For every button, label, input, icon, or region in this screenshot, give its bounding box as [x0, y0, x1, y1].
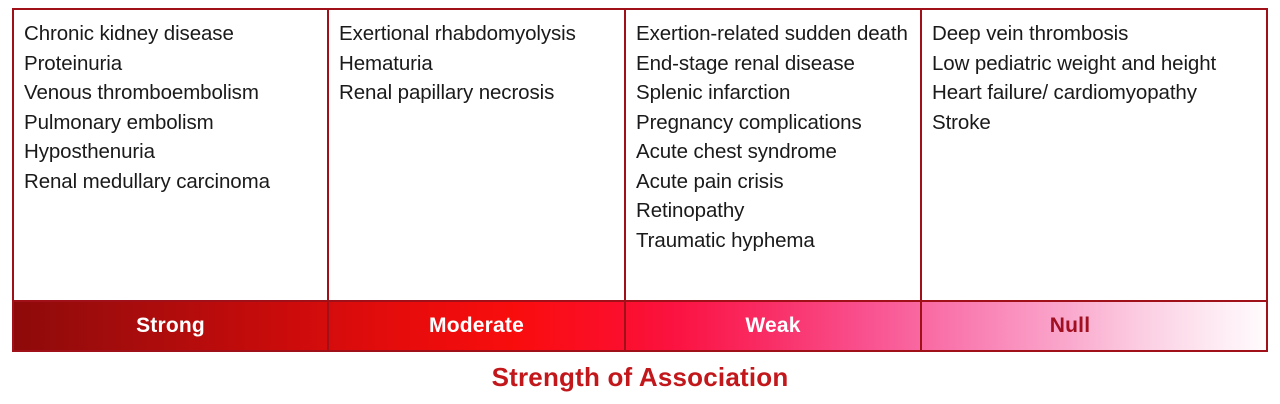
- list-item: Hematuria: [339, 49, 614, 79]
- list-item: Deep vein thrombosis: [932, 19, 1256, 49]
- list-item: Pregnancy complications: [636, 108, 910, 138]
- list-item: Exertional rhabdomyolysis: [339, 19, 614, 49]
- list-item: Renal medullary carcinoma: [24, 167, 317, 197]
- gradient-segment-strong: Strong: [14, 302, 327, 350]
- list-item: Retinopathy: [636, 196, 910, 226]
- list-item: Proteinuria: [24, 49, 317, 79]
- list-item: Renal papillary necrosis: [339, 78, 614, 108]
- gradient-segment-moderate: Moderate: [327, 302, 624, 350]
- gradient-label-strong: Strong: [136, 314, 205, 338]
- condition-list-null: Deep vein thrombosis Low pediatric weigh…: [932, 19, 1256, 137]
- gradient-segment-weak: Weak: [624, 302, 920, 350]
- column-moderate: Exertional rhabdomyolysis Hematuria Rena…: [327, 10, 624, 302]
- list-item: Splenic infarction: [636, 78, 910, 108]
- column-null: Deep vein thrombosis Low pediatric weigh…: [920, 10, 1266, 302]
- gradient-segment-null: Null: [920, 302, 1266, 350]
- strength-gradient-bar: Strong Moderate Weak Null: [14, 300, 1266, 350]
- list-item: Acute pain crisis: [636, 167, 910, 197]
- list-item: Chronic kidney disease: [24, 19, 317, 49]
- list-item: Hyposthenuria: [24, 137, 317, 167]
- column-weak: Exertion-related sudden death End-stage …: [624, 10, 920, 302]
- gradient-label-moderate: Moderate: [429, 314, 524, 338]
- list-item: Acute chest syndrome: [636, 137, 910, 167]
- list-item: End-stage renal disease: [636, 49, 910, 79]
- list-item: Traumatic hyphema: [636, 226, 910, 256]
- strength-of-association-figure: Chronic kidney disease Proteinuria Venou…: [0, 0, 1280, 404]
- columns-row: Chronic kidney disease Proteinuria Venou…: [14, 10, 1266, 302]
- figure-caption: Strength of Association: [0, 362, 1280, 393]
- list-item: Heart failure/ cardiomyopathy: [932, 78, 1256, 108]
- list-item: Stroke: [932, 108, 1256, 138]
- list-item: Pulmonary embolism: [24, 108, 317, 138]
- list-item: Exertion-related sudden death: [636, 19, 910, 49]
- column-strong: Chronic kidney disease Proteinuria Venou…: [14, 10, 327, 302]
- gradient-label-weak: Weak: [745, 314, 800, 338]
- association-table: Chronic kidney disease Proteinuria Venou…: [12, 8, 1268, 352]
- condition-list-strong: Chronic kidney disease Proteinuria Venou…: [24, 19, 317, 196]
- condition-list-weak: Exertion-related sudden death End-stage …: [636, 19, 910, 255]
- condition-list-moderate: Exertional rhabdomyolysis Hematuria Rena…: [339, 19, 614, 108]
- list-item: Venous thromboembolism: [24, 78, 317, 108]
- list-item: Low pediatric weight and height: [932, 49, 1256, 79]
- gradient-label-null: Null: [1050, 314, 1090, 338]
